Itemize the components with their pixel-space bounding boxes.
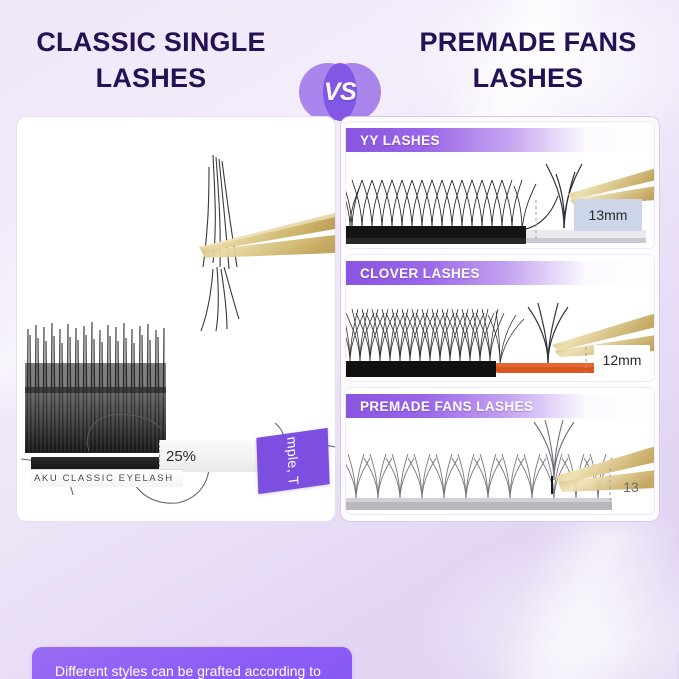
- light-streak-bottom-right: [420, 520, 679, 679]
- right-title-line2: LASHES: [473, 60, 584, 96]
- sample-tag-label: mple, T: [284, 436, 302, 487]
- premade-fans-image-card: YY LASHES: [340, 116, 660, 522]
- comparison-header: CLASSIC SINGLE LASHES VS PREMADE FANS LA…: [0, 24, 679, 110]
- right-column: YY LASHES: [340, 116, 660, 522]
- left-column: 25% mple, T AKU CLASSIC EYELASH Differen…: [16, 116, 336, 522]
- clover-lashes-measure-chip: 12mm: [594, 345, 650, 375]
- right-title-line1: PREMADE FANS: [420, 24, 637, 60]
- premade-fans-scene: 13: [346, 418, 654, 514]
- premade-fans-measure-chip: 13: [614, 474, 648, 500]
- brand-label: AKU CLASSIC EYELASH: [31, 473, 174, 484]
- classic-lashes-image-card: 25% mple, T AKU CLASSIC EYELASH: [16, 116, 336, 522]
- clover-lashes-scene: 12mm: [346, 285, 654, 381]
- yy-lashes-label-bar: YY LASHES: [346, 128, 654, 152]
- clover-lashes-label-bar: CLOVER LASHES: [346, 261, 654, 285]
- classic-lashes-note-text: Different styles can be grafted accordin…: [55, 663, 327, 679]
- clover-lashes-label: CLOVER LASHES: [346, 266, 480, 281]
- yy-lashes-panel: YY LASHES: [345, 121, 655, 249]
- percent-label: 25%: [160, 448, 196, 465]
- premade-fans-lashes-panel: PREMADE FANS LASHES: [345, 387, 655, 515]
- yy-lashes-label: YY LASHES: [346, 133, 440, 148]
- yy-lashes-scene: 13mm: [346, 152, 654, 248]
- classic-lashes-note: Different styles can be grafted accordin…: [32, 647, 352, 679]
- premade-fans-illustration: [346, 418, 655, 515]
- right-column-title: PREMADE FANS LASHES: [383, 24, 673, 110]
- premade-fans-label: PREMADE FANS LASHES: [346, 399, 533, 414]
- brand-strip: AKU CLASSIC EYELASH: [31, 469, 183, 487]
- premade-fans-measure: 13: [623, 479, 639, 495]
- left-title-line2: LASHES: [96, 60, 207, 96]
- sample-tag: mple, T: [256, 428, 329, 494]
- vs-badge: VS: [299, 63, 381, 121]
- yy-lashes-measure: 13mm: [589, 207, 628, 223]
- left-column-title: CLASSIC SINGLE LASHES: [6, 24, 296, 110]
- clover-lashes-panel: CLOVER LASHES: [345, 254, 655, 382]
- premade-fans-label-bar: PREMADE FANS LASHES: [346, 394, 654, 418]
- vs-label: VS: [299, 63, 381, 121]
- clover-lashes-measure: 12mm: [603, 352, 642, 368]
- yy-lashes-measure-chip: 13mm: [574, 199, 642, 231]
- left-title-line1: CLASSIC SINGLE: [36, 24, 265, 60]
